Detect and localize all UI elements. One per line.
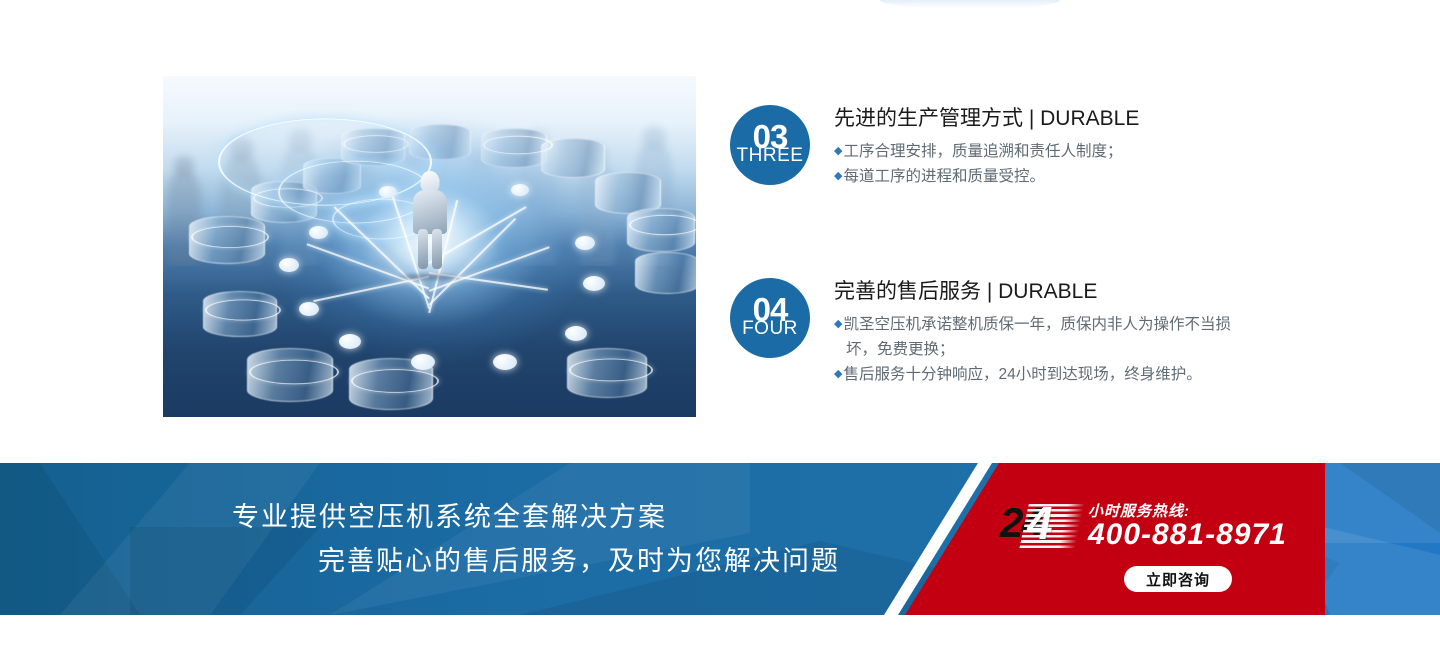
feature-title: 完善的售后服务 | DURABLE	[834, 278, 1234, 306]
node-ring	[351, 369, 439, 393]
bullet-text: 工序合理安排，质量追溯和责任人制度；	[843, 143, 1122, 160]
node-cylinder	[635, 252, 696, 294]
connection-node	[575, 236, 595, 250]
slogan-line-1: 专业提供空压机系统全套解决方案	[0, 495, 940, 539]
node-ring	[191, 226, 269, 248]
list-item: ◆凯圣空压机承诺整机质保一年，质保内非人为操作不当损坏，免费更换；	[834, 312, 1234, 362]
connection-node	[309, 226, 328, 239]
feature-bullet-list: ◆凯圣空压机承诺整机质保一年，质保内非人为操作不当损坏，免费更换； ◆售后服务十…	[834, 312, 1234, 387]
feature-badge-03: 03 THREE	[730, 105, 810, 185]
node-ring	[629, 215, 696, 235]
banner-slogan: 专业提供空压机系统全套解决方案 完善贴心的售后服务，及时为您解决问题	[0, 463, 940, 615]
figure-body	[413, 190, 447, 234]
figure-leg-right	[432, 229, 442, 269]
top-cutoff-decoration	[880, 0, 1060, 9]
consult-now-button[interactable]: 立即咨询	[1124, 566, 1232, 592]
bullet-text: 凯圣空压机承诺整机质保一年，质保内非人为操作不当损坏，免费更换；	[843, 316, 1231, 358]
connection-node	[565, 326, 587, 341]
list-item: ◆售后服务十分钟响应，24小时到达现场，终身维护。	[834, 362, 1234, 387]
bullet-text: 每道工序的进程和质量受控。	[843, 168, 1045, 185]
feature-badge-04: 04 FOUR	[730, 278, 810, 358]
feature-bullet-list: ◆工序合理安排，质量追溯和责任人制度； ◆每道工序的进程和质量受控。	[834, 139, 1139, 189]
people-network-illustration	[163, 76, 696, 417]
badge-word: THREE	[737, 146, 804, 166]
connection-node	[493, 354, 517, 370]
connection-node	[511, 184, 529, 196]
promo-page: 03 THREE 先进的生产管理方式 | DURABLE ◆工序合理安排，质量追…	[0, 0, 1440, 663]
feature-content-03: 先进的生产管理方式 | DURABLE ◆工序合理安排，质量追溯和责任人制度； …	[834, 105, 1139, 189]
list-item: ◆每道工序的进程和质量受控。	[834, 164, 1139, 189]
feature-content-04: 完善的售后服务 | DURABLE ◆凯圣空压机承诺整机质保一年，质保内非人为操…	[834, 278, 1234, 387]
connection-node	[279, 258, 299, 272]
connection-node	[299, 302, 319, 316]
connection-node	[583, 276, 605, 291]
connection-node	[379, 186, 397, 198]
hotline-phone-number: 400-881-8971	[1088, 518, 1287, 552]
bullet-text: 售后服务十分钟响应，24小时到达现场，终身维护。	[843, 366, 1201, 383]
connection-node	[411, 354, 435, 370]
feature-title: 先进的生产管理方式 | DURABLE	[834, 105, 1139, 133]
list-item: ◆工序合理安排，质量追溯和责任人制度；	[834, 139, 1139, 164]
central-person-figure	[413, 171, 447, 267]
badge-word: FOUR	[742, 319, 798, 339]
connection-node	[339, 334, 361, 349]
figure-leg-left	[418, 229, 428, 269]
slogan-line-2: 完善贴心的售后服务，及时为您解决问题	[0, 539, 940, 583]
hotline-24-highlight: 4	[1027, 500, 1069, 548]
